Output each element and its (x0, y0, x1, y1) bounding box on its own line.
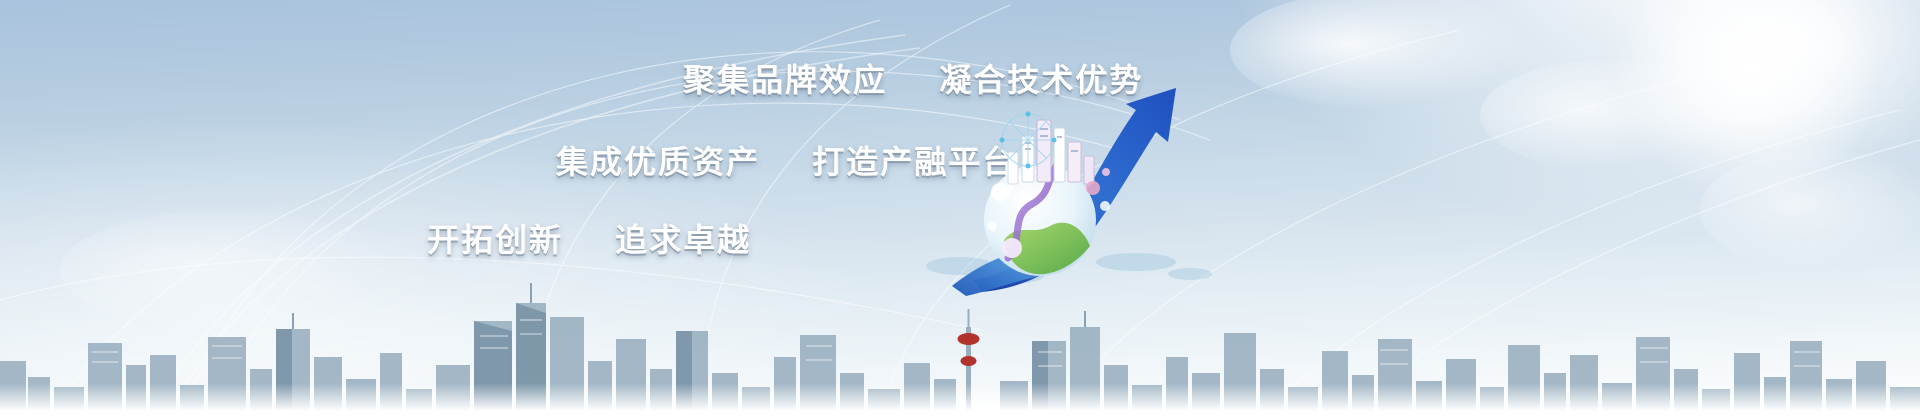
globe-arrow-illustration (900, 80, 1220, 300)
headline-line-1-left: 聚集品牌效应 (683, 61, 887, 99)
cloud-shape (1230, 0, 1530, 110)
headline-line-3-left: 开拓创新 (427, 221, 563, 259)
cloud-shape (1700, 150, 1920, 270)
cloud-shape (1480, 60, 1740, 170)
headline-line-2-left: 集成优质资产 (556, 143, 760, 181)
sun-flare-icon (1620, 0, 1880, 200)
skyline-accent-towers (276, 303, 1048, 419)
headline-line-3: 开拓创新 追求卓越 (427, 215, 751, 261)
skyline-window-texture (92, 319, 1820, 367)
hero-banner: 聚集品牌效应 凝合技术优势 集成优质资产 打造产融平台 开拓创新 追求卓越 (0, 0, 1920, 419)
connector-lines (1002, 114, 1054, 166)
tv-tower-icon (958, 309, 980, 419)
ground-fade-overlay (0, 383, 1920, 419)
cloud-shape (60, 210, 400, 330)
headline-line-3-right: 追求卓越 (615, 221, 751, 259)
